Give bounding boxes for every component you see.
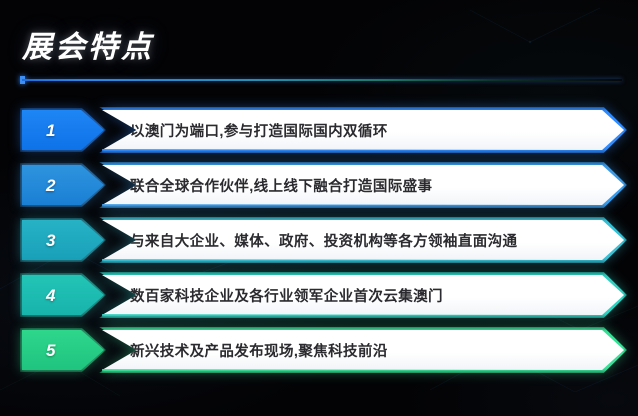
feature-panel[interactable]: 新兴技术及产品发布现场,聚焦科技前沿 [102,330,624,370]
panel-underline [102,259,598,261]
feature-text: 数百家科技企业及各行业领军企业首次云集澳门 [130,285,443,306]
feature-panel[interactable]: 联合全球合作伙伴,线上线下融合打造国际盛事 [102,165,624,205]
feature-text: 新兴技术及产品发布现场,聚焦科技前沿 [130,340,388,361]
feature-text: 联合全球合作伙伴,线上线下融合打造国际盛事 [130,175,432,196]
row-number-label: 5 [46,342,55,359]
row-number-label: 3 [46,232,55,249]
page-title: 展会特点 [22,22,154,66]
title-divider [22,79,622,81]
row-number-label: 1 [46,122,55,139]
feature-row[interactable]: 4 数百家科技企业及各行业领军企业首次云集澳门 [0,275,638,315]
row-number-badge[interactable]: 3 [22,220,104,260]
row-number-badge[interactable]: 1 [22,110,104,150]
feature-text: 以澳门为端口,参与打造国际国内双循环 [130,120,388,141]
feature-row[interactable]: 3 与来自大企业、媒体、政府、投资机构等各方领袖直面沟通 [0,220,638,260]
row-number-badge[interactable]: 4 [22,275,104,315]
feature-row[interactable]: 1 以澳门为端口,参与打造国际国内双循环 [0,110,638,150]
row-number-badge[interactable]: 2 [22,165,104,205]
feature-list: 1 以澳门为端口,参与打造国际国内双循环 2 联合全球合作伙伴,线上线下融合打造… [0,110,638,385]
row-number-label: 2 [46,177,55,194]
row-number-badge[interactable]: 5 [22,330,104,370]
panel-underline [102,149,598,151]
feature-panel[interactable]: 与来自大企业、媒体、政府、投资机构等各方领袖直面沟通 [102,220,624,260]
feature-panel[interactable]: 数百家科技企业及各行业领军企业首次云集澳门 [102,275,624,315]
feature-row[interactable]: 2 联合全球合作伙伴,线上线下融合打造国际盛事 [0,165,638,205]
feature-panel[interactable]: 以澳门为端口,参与打造国际国内双循环 [102,110,624,150]
panel-underline [102,204,598,206]
panel-underline [102,314,598,316]
feature-row[interactable]: 5 新兴技术及产品发布现场,聚焦科技前沿 [0,330,638,370]
row-number-label: 4 [46,287,55,304]
panel-underline [102,369,598,371]
header: 展会特点 [0,0,638,92]
feature-text: 与来自大企业、媒体、政府、投资机构等各方领袖直面沟通 [130,230,517,251]
